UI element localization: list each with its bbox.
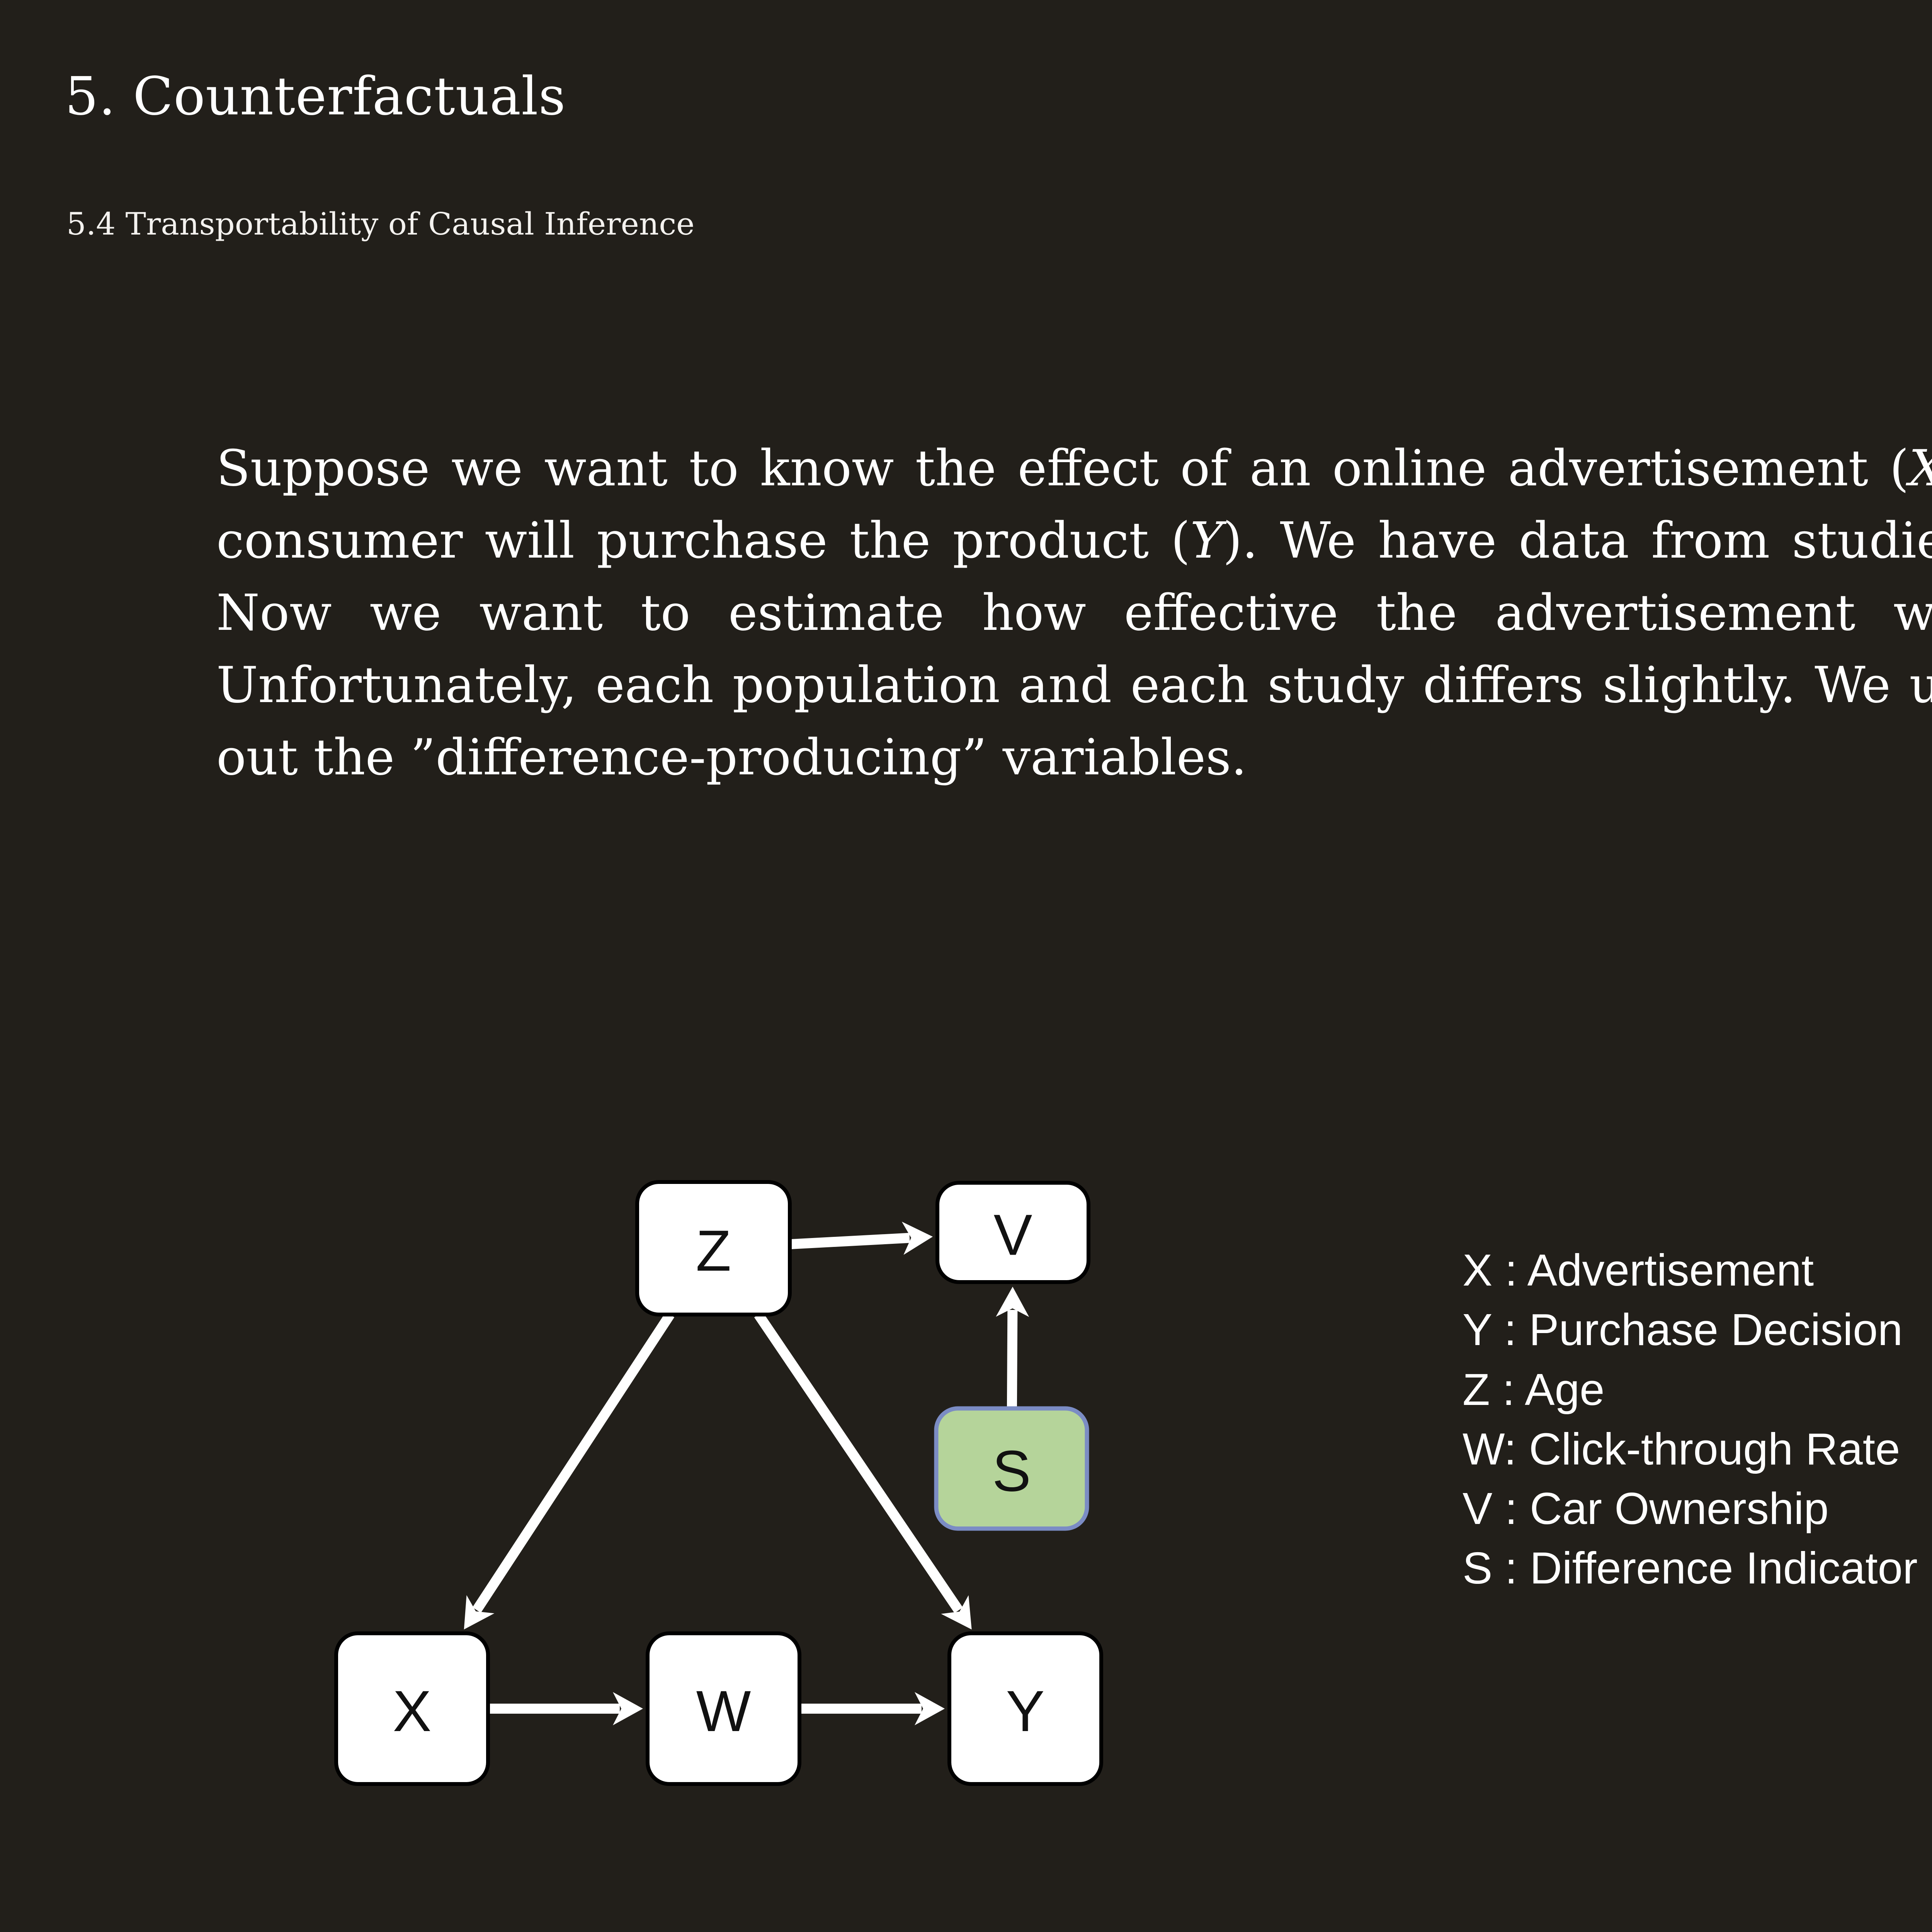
dag-edge-z-to-x <box>477 1315 670 1610</box>
dag-edge-s-to-v <box>1012 1310 1012 1408</box>
legend-row: X : Advertisement <box>1463 1240 1918 1300</box>
dag-node-label: Y <box>1006 1679 1044 1743</box>
legend-row: W: Click-through Rate <box>1463 1419 1918 1479</box>
dag-node-label: V <box>993 1202 1032 1267</box>
dag-node-w[interactable]: W <box>648 1633 799 1784</box>
dag-node-s[interactable]: S <box>936 1408 1087 1529</box>
dag-node-label: X <box>393 1679 431 1743</box>
dag-node-z[interactable]: Z <box>637 1182 790 1315</box>
dag-node-label: S <box>992 1439 1031 1503</box>
slide-root: 5. Counterfactuals 5.4 Transportability … <box>0 0 1932 1932</box>
variable-x: X <box>1909 440 1932 497</box>
legend-row: V : Car Ownership <box>1463 1479 1918 1538</box>
dag-edge-z-to-v <box>790 1238 910 1244</box>
page-subtitle: 5.4 Transportability of Causal Inference <box>66 209 694 240</box>
dag-node-label: Z <box>696 1218 731 1283</box>
paragraph-segment-1: Suppose we want to know the effect of an… <box>216 440 1909 497</box>
legend-row: Z : Age <box>1463 1360 1918 1419</box>
dag-node-v[interactable]: V <box>937 1183 1088 1282</box>
page-title: 5. Counterfactuals <box>65 70 566 123</box>
body-paragraph: Suppose we want to know the effect of an… <box>216 433 1932 794</box>
variable-y: Y <box>1190 512 1223 570</box>
legend-row: S : Difference Indicator <box>1463 1538 1918 1598</box>
dag-node-layer: ZVSXWY <box>336 1182 1101 1784</box>
causal-dag-diagram: ZVSXWY <box>317 1159 1151 1816</box>
dag-node-label: W <box>696 1679 751 1743</box>
dag-node-y[interactable]: Y <box>949 1633 1101 1784</box>
variable-legend: X : AdvertisementY : Purchase DecisionZ … <box>1463 1240 1918 1598</box>
dag-edge-z-to-y <box>759 1315 959 1610</box>
dag-node-x[interactable]: X <box>336 1633 488 1784</box>
legend-row: Y : Purchase Decision <box>1463 1300 1918 1359</box>
